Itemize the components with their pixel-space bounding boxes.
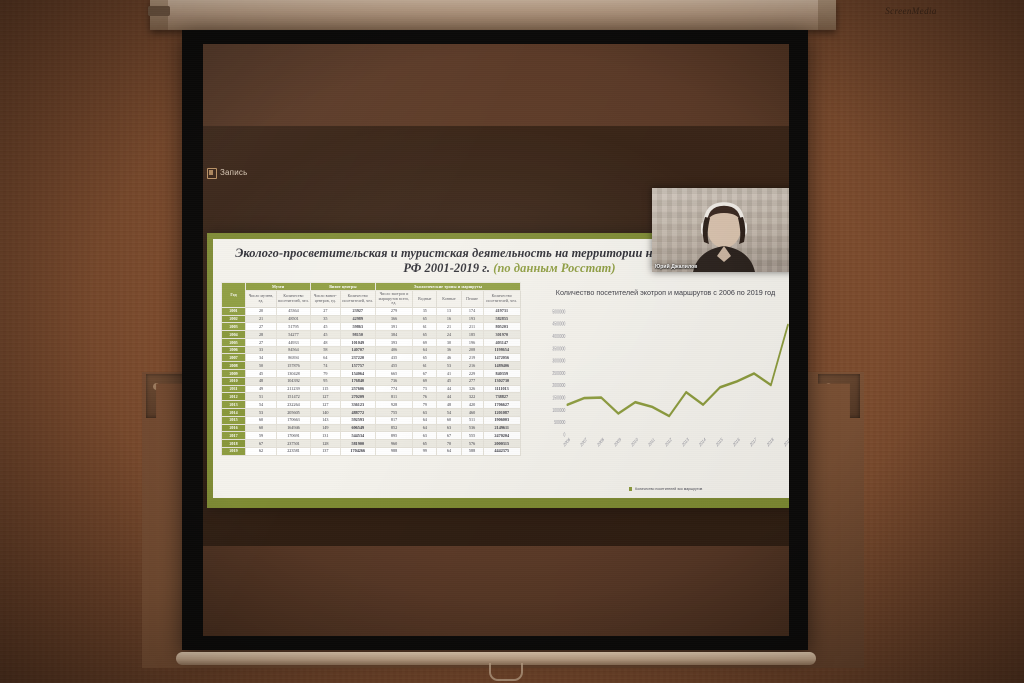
table-row: 20166016494614960654985264635362149611: [222, 424, 521, 432]
table-row: 201962223581137170426698899645884442375: [222, 447, 521, 455]
cell-horse: 45: [437, 377, 461, 385]
cell-foot: 196: [461, 338, 483, 346]
cell-year: 2001: [222, 307, 246, 315]
chart-y-tick: 5000000: [552, 308, 565, 314]
th-center-visitors: Количество посетителей, чел.: [340, 291, 375, 308]
table-row: 20145320560514048877275563544601201087: [222, 408, 521, 416]
cell-trail-visitors: 738827: [483, 393, 520, 401]
th-center-count: Число визит-центров, ед.: [311, 291, 341, 308]
cell-centers: 115: [311, 385, 341, 393]
cell-center-visitors: 98150: [340, 331, 375, 339]
cell-centers: 149: [311, 424, 341, 432]
chart-y-tick: 4000000: [552, 333, 565, 339]
chart-y-tick: 1500000: [552, 394, 565, 400]
cell-trails: 455: [375, 362, 412, 370]
th-trail-count: Число экотроп и маршрутов всего, ед.: [375, 291, 412, 308]
chart-y-tick: 2500000: [552, 370, 565, 376]
cell-water: 69: [413, 377, 437, 385]
slide-title-line1: Эколого-просветительская и туристская де…: [235, 246, 568, 260]
chart-y-axis-labels: 0500000100000015000002000000250000030000…: [552, 308, 565, 437]
table-row: 2002214850135429893666516193582855: [222, 315, 521, 323]
table-sub-header-row: Число музеев, ед. Количество посетителей…: [222, 291, 521, 308]
cell-trail-visitors: 419731: [483, 307, 520, 315]
chart-x-axis-labels: 2006200720082009201020112012201320142015…: [563, 435, 789, 447]
cell-trails: 384: [375, 331, 412, 339]
th-visit-centers: Визит центры: [311, 283, 376, 291]
cell-centers: 64: [311, 354, 341, 362]
cell-museums: 59: [246, 432, 277, 440]
table-row: 20052744933481010493936930196403147: [222, 338, 521, 346]
cell-museum-visitors: 104392: [276, 377, 310, 385]
cell-centers: 140: [311, 408, 341, 416]
cell-water: 64: [413, 416, 437, 424]
cell-year: 2016: [222, 424, 246, 432]
statistics-table-body: 2001204536427239272793513174419731200221…: [222, 307, 521, 455]
cell-horse: 44: [437, 385, 461, 393]
recording-label: Запись: [220, 168, 247, 177]
cell-centers: 48: [311, 338, 341, 346]
cell-trail-visitors: 2149611: [483, 424, 520, 432]
cell-trails: 817: [375, 416, 412, 424]
cell-center-visitors: 176840: [340, 377, 375, 385]
cell-foot: 322: [461, 393, 483, 401]
slide-body: Год Музеи Визит центры Экологические тро…: [213, 280, 789, 498]
cell-museum-visitors: 205605: [276, 408, 310, 416]
cell-foot: 460: [461, 408, 483, 416]
cell-trails: 988: [375, 447, 412, 455]
webcam-overlay[interactable]: Юрий Джалилов: [652, 188, 789, 272]
cell-trails: 393: [375, 338, 412, 346]
legend-label: Количество посетителей эко маршрутов: [635, 487, 702, 491]
slide-content: Эколого-просветительская и туристская де…: [213, 239, 789, 498]
cell-water: 67: [413, 370, 437, 378]
cell-museum-visitors: 54277: [276, 331, 310, 339]
cell-centers: 79: [311, 370, 341, 378]
cell-trails: 895: [375, 432, 412, 440]
cell-horse: 48: [437, 401, 461, 409]
cell-trail-visitors: 301970: [483, 331, 520, 339]
cell-year: 2012: [222, 393, 246, 401]
cell-museums: 49: [246, 385, 277, 393]
chart-y-tick: 3000000: [552, 357, 565, 363]
cell-water: 76: [413, 393, 437, 401]
cell-trail-visitors: 1198654: [483, 346, 520, 354]
chart-x-tick: 2010: [630, 435, 639, 447]
screen-case-cap-right: [818, 0, 836, 30]
cell-center-visitors: 488772: [340, 408, 375, 416]
cell-center-visitors: 592593: [340, 416, 375, 424]
cell-centers: 45: [311, 331, 341, 339]
cell-centers: 35: [311, 315, 341, 323]
cell-museums: 62: [246, 447, 277, 455]
cell-year: 2005: [222, 338, 246, 346]
person-with-headphones: [652, 188, 789, 272]
cell-museum-visitors: 232264: [276, 401, 310, 409]
cell-horse: 44: [437, 393, 461, 401]
table-group-header-row: Год Музеи Визит центры Экологические тро…: [222, 283, 521, 291]
cell-trail-visitors: 840359: [483, 370, 520, 378]
th-foot: Пешие: [461, 291, 483, 308]
cell-museums: 60: [246, 424, 277, 432]
cell-horse: 24: [437, 331, 461, 339]
cell-museum-visitors: 48501: [276, 315, 310, 323]
table-row: 2003275179545598633916121211805203: [222, 323, 521, 331]
cell-horse: 60: [437, 416, 461, 424]
cell-year: 2010: [222, 377, 246, 385]
cell-museums: 60: [246, 416, 277, 424]
cell-museum-visitors: 130428: [276, 370, 310, 378]
cell-water: 64: [413, 346, 437, 354]
chart-data-line: [567, 324, 788, 415]
presentation-slide: Эколого-просветительская и туристская де…: [207, 233, 789, 508]
cell-center-visitors: 42989: [340, 315, 375, 323]
cell-trail-visitors: 805203: [483, 323, 520, 331]
cell-foot: 185: [461, 331, 483, 339]
table-row: 2012511514721272702098117644322738827: [222, 393, 521, 401]
cell-museum-visitors: 223581: [276, 447, 310, 455]
cell-trails: 279: [375, 307, 412, 315]
cell-year: 2003: [222, 323, 246, 331]
table-row: 20186723750112858190096065705762000315: [222, 440, 521, 448]
cell-water: 65: [413, 354, 437, 362]
chart-x-tick: 2013: [681, 435, 690, 447]
cell-trail-visitors: 1111013: [483, 385, 520, 393]
legend-color-swatch: [629, 487, 633, 491]
cell-museums: 27: [246, 323, 277, 331]
chart-x-tick: 2009: [613, 435, 622, 447]
cell-year: 2011: [222, 385, 246, 393]
cell-foot: 211: [461, 323, 483, 331]
cell-foot: 208: [461, 346, 483, 354]
cell-horse: 63: [437, 424, 461, 432]
table-row: 200945130428791540646656741229840359: [222, 370, 521, 378]
chart-x-tick: 2011: [647, 435, 655, 447]
cell-museum-visitors: 211239: [276, 385, 310, 393]
cell-museum-visitors: 237501: [276, 440, 310, 448]
chart-title: Количество посетителей экотроп и маршрут…: [531, 282, 789, 300]
webcam-participant-name: Юрий Джалилов: [655, 264, 697, 270]
cell-horse: 36: [437, 346, 461, 354]
cell-centers: 128: [311, 440, 341, 448]
th-museum-count: Число музеев, ед.: [246, 291, 277, 308]
chart-y-tick: 500000: [554, 419, 566, 425]
cell-year: 2018: [222, 440, 246, 448]
cell-foot: 536: [461, 424, 483, 432]
cell-trails: 811: [375, 393, 412, 401]
cell-year: 2017: [222, 432, 246, 440]
cell-centers: 143: [311, 416, 341, 424]
cell-center-visitors: 101049: [340, 338, 375, 346]
cell-foot: 420: [461, 401, 483, 409]
chart-plot-area: 0500000100000015000002000000250000030000…: [533, 302, 789, 487]
cell-foot: 511: [461, 416, 483, 424]
cell-center-visitors: 140707: [340, 346, 375, 354]
cell-trails: 736: [375, 377, 412, 385]
cell-centers: 127: [311, 401, 341, 409]
cell-centers: 27: [311, 307, 341, 315]
cell-center-visitors: 1704266: [340, 447, 375, 455]
th-museums: Музеи: [246, 283, 311, 291]
cell-center-visitors: 23927: [340, 307, 375, 315]
cell-museums: 28: [246, 331, 277, 339]
cell-trail-visitors: 1201087: [483, 408, 520, 416]
cell-foot: 555: [461, 432, 483, 440]
cell-center-visitors: 336123: [340, 401, 375, 409]
cell-museums: 34: [246, 354, 277, 362]
chart-x-tick: 2014: [698, 435, 707, 447]
cell-trails: 366: [375, 315, 412, 323]
cell-trail-visitors: 1489406: [483, 362, 520, 370]
chart-x-tick: 2006: [563, 435, 572, 447]
table-row: 20156017066314359259381764605111906003: [222, 416, 521, 424]
cell-centers: 127: [311, 393, 341, 401]
cell-trails: 852: [375, 424, 412, 432]
cell-centers: 58: [311, 346, 341, 354]
cell-trails: 406: [375, 346, 412, 354]
cell-center-visitors: 544534: [340, 432, 375, 440]
cell-foot: 229: [461, 370, 483, 378]
cell-museums: 54: [246, 401, 277, 409]
cell-center-visitors: 257606: [340, 385, 375, 393]
cell-center-visitors: 581900: [340, 440, 375, 448]
th-museum-visitors: Количество посетителей, чел.: [276, 291, 310, 308]
cell-museums: 53: [246, 408, 277, 416]
table-row: 2010481043929517684073669452771302730: [222, 377, 521, 385]
cell-museum-visitors: 45364: [276, 307, 310, 315]
cell-centers: 45: [311, 323, 341, 331]
cell-year: 2008: [222, 362, 246, 370]
cell-center-visitors: 237220: [340, 354, 375, 362]
cell-year: 2007: [222, 354, 246, 362]
visitors-chart: Количество посетителей экотроп и маршрут…: [525, 282, 789, 494]
projected-image: Запись Эколого-просветительская и турист…: [203, 126, 789, 546]
cell-water: 64: [413, 424, 437, 432]
th-eco-trails: Экологические тропы и маршруты: [375, 283, 520, 291]
th-water: Водные: [413, 291, 437, 308]
th-year: Год: [222, 283, 246, 308]
table-row: 2001204536427239272793513174419731: [222, 307, 521, 315]
cell-trail-visitors: 1472056: [483, 354, 520, 362]
cell-museums: 20: [246, 307, 277, 315]
cell-horse: 30: [437, 338, 461, 346]
recording-indicator: Запись: [207, 168, 247, 177]
cell-horse: 13: [437, 307, 461, 315]
chart-x-tick: 2015: [715, 435, 724, 447]
cell-trail-visitors: 1906003: [483, 416, 520, 424]
slide-title-accent: (по данным Росстат): [493, 261, 615, 275]
record-icon: [207, 168, 215, 177]
cell-year: 2002: [222, 315, 246, 323]
chart-x-tick: 2016: [732, 435, 741, 447]
projector-screen-surface: Запись Эколого-просветительская и турист…: [203, 44, 789, 636]
table-row: 20114921123911525760677473443261111013: [222, 385, 521, 393]
cell-centers: 137: [311, 447, 341, 455]
cell-museums: 50: [246, 362, 277, 370]
cell-foot: 219: [461, 354, 483, 362]
cell-foot: 216: [461, 362, 483, 370]
cell-trails: 665: [375, 370, 412, 378]
cell-trails: 774: [375, 385, 412, 393]
statistics-table-wrap: Год Музеи Визит центры Экологические тро…: [221, 282, 521, 494]
statistics-table: Год Музеи Визит центры Экологические тро…: [221, 282, 521, 456]
cell-trail-visitors: 403147: [483, 338, 520, 346]
cell-water: 35: [413, 307, 437, 315]
cell-museum-visitors: 51795: [276, 323, 310, 331]
cell-center-visitors: 157757: [340, 362, 375, 370]
projector-screen-case: ScreenMedia: [150, 0, 836, 30]
cell-museum-visitors: 170663: [276, 416, 310, 424]
cell-museums: 51: [246, 393, 277, 401]
cell-museums: 67: [246, 440, 277, 448]
cell-year: 2006: [222, 346, 246, 354]
cell-horse: 16: [437, 315, 461, 323]
chart-y-tick: 0: [564, 431, 566, 437]
cell-centers: 74: [311, 362, 341, 370]
cell-water: 79: [413, 401, 437, 409]
chart-x-tick: 2019: [783, 435, 789, 447]
cell-horse: 54: [437, 408, 461, 416]
chart-y-tick: 3500000: [552, 345, 565, 351]
cell-year: 2004: [222, 331, 246, 339]
chart-x-tick: 2008: [596, 435, 605, 447]
cell-trail-visitors: 2000315: [483, 440, 520, 448]
cell-center-visitors: 59863: [340, 323, 375, 331]
cell-foot: 193: [461, 315, 483, 323]
cell-water: 65: [413, 440, 437, 448]
table-row: 200633845645814070740664362081198654: [222, 346, 521, 354]
cell-horse: 41: [437, 370, 461, 378]
chart-x-tick: 2007: [580, 435, 589, 447]
cell-horse: 46: [437, 354, 461, 362]
cell-center-visitors: 606549: [340, 424, 375, 432]
cell-museums: 45: [246, 370, 277, 378]
table-row: 20135423226412733612392879484201706627: [222, 401, 521, 409]
cell-water: 61: [413, 362, 437, 370]
cell-water: 63: [413, 432, 437, 440]
cell-water: 65: [413, 315, 437, 323]
cell-horse: 67: [437, 432, 461, 440]
cell-trails: 755: [375, 408, 412, 416]
cell-museums: 21: [246, 315, 277, 323]
chart-y-tick: 4500000: [552, 320, 565, 326]
cell-horse: 70: [437, 440, 461, 448]
cell-center-visitors: 154064: [340, 370, 375, 378]
cell-museum-visitors: 164946: [276, 424, 310, 432]
table-row: 200734863946423722043565462191472056: [222, 354, 521, 362]
cell-trails: 960: [375, 440, 412, 448]
cell-horse: 53: [437, 362, 461, 370]
chart-y-tick: 1000000: [552, 407, 565, 413]
cell-centers: 131: [311, 432, 341, 440]
chart-y-tick: 2000000: [552, 382, 565, 388]
cell-trail-visitors: 1302730: [483, 377, 520, 385]
cell-horse: 64: [437, 447, 461, 455]
cell-water: 99: [413, 447, 437, 455]
cell-foot: 277: [461, 377, 483, 385]
cell-water: 61: [413, 323, 437, 331]
cell-museums: 27: [246, 338, 277, 346]
cell-museum-visitors: 170691: [276, 432, 310, 440]
cell-foot: 326: [461, 385, 483, 393]
cell-year: 2009: [222, 370, 246, 378]
cell-year: 2019: [222, 447, 246, 455]
cell-trail-visitors: 582855: [483, 315, 520, 323]
cell-trail-visitors: 2470204: [483, 432, 520, 440]
cell-trails: 928: [375, 401, 412, 409]
screen-ceiling-mount: [148, 6, 170, 16]
cell-year: 2013: [222, 401, 246, 409]
cell-water: 73: [413, 385, 437, 393]
cell-museums: 33: [246, 346, 277, 354]
cell-trails: 435: [375, 354, 412, 362]
cell-horse: 21: [437, 323, 461, 331]
cell-trail-visitors: 1706627: [483, 401, 520, 409]
table-row: 2008501578767415775745561532161489406: [222, 362, 521, 370]
cell-year: 2014: [222, 408, 246, 416]
cell-trail-visitors: 4442375: [483, 447, 520, 455]
cell-foot: 174: [461, 307, 483, 315]
cell-museum-visitors: 151472: [276, 393, 310, 401]
cell-centers: 95: [311, 377, 341, 385]
cell-museum-visitors: 44933: [276, 338, 310, 346]
table-row: 2004285427745981503846524185301970: [222, 331, 521, 339]
cell-year: 2015: [222, 416, 246, 424]
chart-svg: 0500000100000015000002000000250000030000…: [533, 302, 789, 487]
cell-museum-visitors: 86394: [276, 354, 310, 362]
chart-legend: Количество посетителей эко маршрутов: [531, 486, 789, 494]
cell-museums: 48: [246, 377, 277, 385]
th-trail-visitors: Количество посетителей, чел.: [483, 291, 520, 308]
table-row: 20175917069113154453489563675552470204: [222, 432, 521, 440]
chart-x-tick: 2012: [664, 435, 673, 447]
cell-trails: 391: [375, 323, 412, 331]
cell-water: 63: [413, 408, 437, 416]
screen-brand-label: ScreenMedia: [856, 4, 966, 18]
cell-center-visitors: 270209: [340, 393, 375, 401]
chart-x-tick: 2018: [766, 435, 775, 447]
cell-water: 65: [413, 331, 437, 339]
cell-museum-visitors: 157876: [276, 362, 310, 370]
cell-foot: 576: [461, 440, 483, 448]
chart-x-tick: 2017: [749, 435, 758, 447]
cell-museum-visitors: 84564: [276, 346, 310, 354]
cell-water: 69: [413, 338, 437, 346]
screen-pull-handle[interactable]: [489, 663, 523, 681]
cell-foot: 588: [461, 447, 483, 455]
th-horse: Конные: [437, 291, 461, 308]
